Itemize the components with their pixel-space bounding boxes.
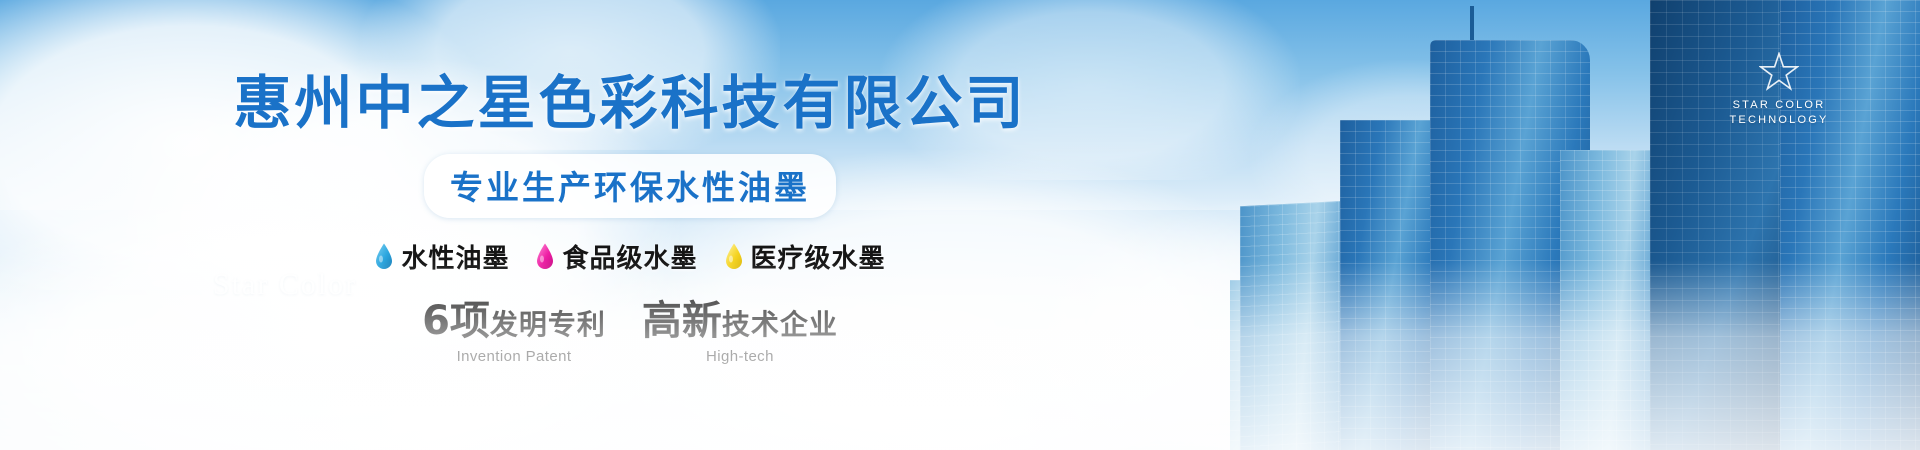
corner-logo-line1: STAR COLOR [1704, 98, 1854, 113]
subtitle-pill: 专业生产环保水性油墨 [424, 154, 836, 218]
star-icon [1759, 52, 1799, 92]
corner-logo-line2: TECHNOLOGY [1704, 113, 1854, 128]
page-title: 惠州中之星色彩科技有限公司 [233, 56, 1026, 140]
antenna [1470, 6, 1474, 40]
company-hero-banner: STAR COLOR TECHNOLOGY Star Color 惠州中之星色彩… [0, 0, 1920, 450]
bottom-haze [0, 260, 1920, 450]
subtitle: 专业生产环保水性油墨 [450, 161, 810, 209]
corner-logo: STAR COLOR TECHNOLOGY [1704, 52, 1854, 128]
